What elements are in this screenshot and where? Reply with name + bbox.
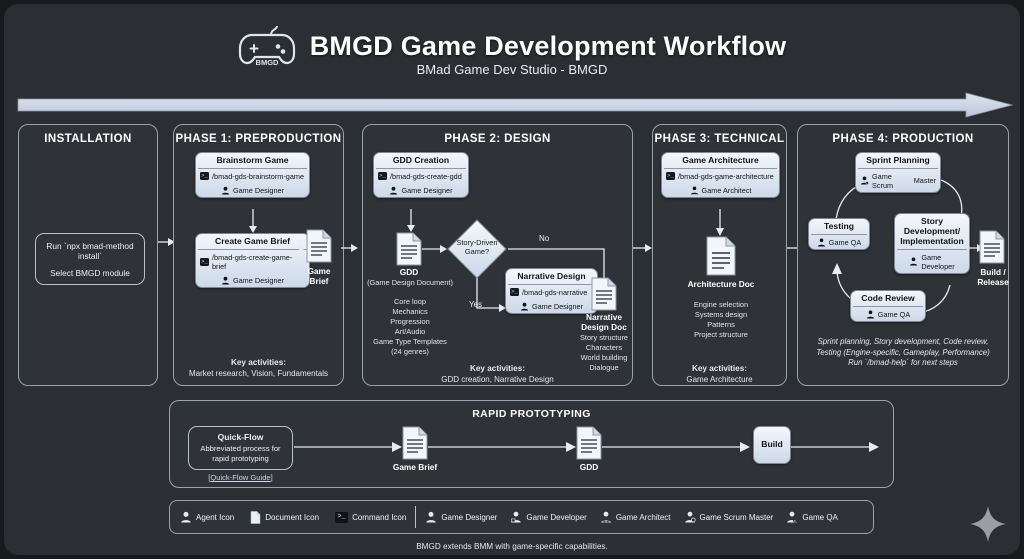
narrative-bullet: Story structure [580, 333, 628, 342]
document-icon-rapid-game-brief [402, 426, 428, 460]
title-line2: Development/ [904, 226, 960, 236]
connector-brief-to-gdd [428, 440, 578, 454]
game-qa-icon [866, 310, 875, 319]
legend-label: Document Icon [265, 513, 319, 522]
label-gdd-sublabel: (Game Design Document) [365, 278, 455, 288]
decision-line1: Story-Driven [456, 238, 497, 247]
command-icon: >_ [200, 258, 209, 266]
quick-flow-desc: Abbreviated process for rapid prototypin… [200, 444, 280, 465]
command-icon: >_ [335, 512, 348, 523]
command-icon: >_ [200, 172, 209, 180]
node-title: Game Architecture [662, 153, 779, 168]
node-command: /bmad-gds-create-game-brief [212, 253, 305, 271]
node-agent-row: Game Developer [895, 250, 969, 273]
arch-bullet: Systems design [695, 310, 747, 319]
label-build-release: Build / Release [967, 268, 1019, 288]
command-icon: >_ [510, 288, 519, 296]
node-agent: Game Designer [233, 276, 284, 285]
arch-bullet: Engine selection [694, 300, 748, 309]
node-command: /bmad-gds-create-gdd [390, 172, 462, 181]
node-agent: Game Architect [702, 186, 752, 195]
desc-line2: rapid prototyping [212, 454, 269, 463]
node-title: Narrative Design [506, 269, 597, 284]
game-designer-icon [425, 511, 437, 523]
game-scrum-master-icon [860, 176, 869, 185]
phase3-panel: PHASE 3: TECHNICAL Game Architecture >_ … [652, 124, 787, 386]
node-agent-row: Game Designer [506, 299, 597, 313]
key-text: Game Architecture [686, 375, 752, 384]
phase2-title: PHASE 2: DESIGN [363, 133, 632, 145]
node-command: /bmad-gds-narrative [522, 288, 587, 297]
node-code-review[interactable]: Code Review Game QA [850, 290, 926, 322]
narrative-bullet: Characters [586, 343, 622, 352]
agent-line1: Game [921, 253, 941, 262]
quick-flow-guide-link[interactable]: [Quick-Flow Guide] [188, 473, 293, 482]
game-developer-icon [510, 511, 522, 523]
node-command: /bmad-gds-game-architecture [678, 172, 774, 181]
connector-phase2-to-phase3 [633, 242, 653, 254]
node-agent-row: Game QA [851, 307, 925, 321]
rapid-prototyping-panel: RAPID PROTOTYPING Quick-Flow Abbreviated… [169, 400, 894, 488]
legend-label: Game QA [802, 513, 838, 522]
connector-gdd-to-decision [422, 243, 448, 255]
document-icon-gdd [396, 232, 422, 266]
quick-flow-box[interactable]: Quick-Flow Abbreviated process for rapid… [188, 426, 293, 470]
gdd-bullet: Game Type Templates [373, 337, 447, 346]
agent-line2: Developer [921, 262, 954, 271]
agent-icon [520, 302, 529, 311]
node-agent: Game Developer [921, 253, 954, 271]
connector-build-out [791, 440, 881, 454]
label-line2: Brief [310, 276, 329, 286]
legend-item-game-developer: Game Developer [510, 511, 586, 523]
node-agent: Game Designer [532, 302, 583, 311]
connector-brief-to-doc [289, 242, 307, 254]
agent-icon [221, 186, 230, 195]
gdd-bullet: Mechanics [392, 307, 427, 316]
label-architecture-doc: Architecture Doc [666, 280, 776, 290]
gdd-bullet: Art/Audio [395, 327, 425, 336]
document-icon-narrative [591, 277, 617, 311]
legend-label: Game Developer [526, 513, 586, 522]
agent-icon [389, 186, 398, 195]
node-testing[interactable]: Testing Game QA [808, 218, 870, 250]
sparkle-icon [966, 502, 1010, 546]
link-text[interactable]: Quick-Flow Guide [210, 473, 270, 482]
node-title: GDD Creation [374, 153, 468, 168]
legend-item-game-qa: Game QA [786, 511, 838, 523]
node-command-row: >_ /bmad-gds-game-architecture [662, 169, 779, 183]
gdd-bullet-list: Core loop Mechanics Progression Art/Audi… [365, 297, 455, 357]
phase2-key-activities: Key activities: GDD creation, Narrative … [363, 363, 632, 386]
quick-flow-title: Quick-Flow [218, 432, 264, 442]
legend-label: Game Architect [616, 513, 671, 522]
page-subtitle: BMad Game Dev Studio - BMGD [4, 62, 1020, 77]
game-architect-icon [690, 186, 699, 195]
node-sprint-planning[interactable]: Sprint Planning Game Scrum Master [855, 152, 941, 193]
node-agent: Game Designer [401, 186, 452, 195]
label-rapid-gdd: GDD [566, 463, 612, 473]
phase1-key-activities: Key activities: Market research, Vision,… [174, 357, 343, 380]
gdd-bullet: Core loop [394, 297, 426, 306]
node-brainstorm-game[interactable]: Brainstorm Game >_ /bmad-gds-brainstorm-… [195, 152, 310, 198]
connector-gdd-to-build [602, 440, 752, 454]
key-label: Key activities: [231, 358, 286, 367]
node-agent-row: Game Architect [662, 183, 779, 197]
key-text: GDD creation, Narrative Design [441, 375, 553, 384]
node-game-architecture[interactable]: Game Architecture >_ /bmad-gds-game-arch… [661, 152, 780, 198]
phase3-title: PHASE 3: TECHNICAL [653, 133, 786, 145]
node-title: Testing [809, 219, 869, 234]
legend-label: Game Scrum Master [700, 513, 774, 522]
node-agent-line1: Game Scrum [872, 172, 911, 190]
node-title: Story Development/ Implementation [895, 214, 969, 249]
label-line1: Narrative [586, 312, 622, 322]
decision-label: Story-Driven Game? [448, 239, 506, 257]
label-narrative-doc: Narrative Design Doc [568, 313, 640, 333]
node-command-row: >_ /bmad-gds-create-gdd [374, 169, 468, 183]
node-title: Code Review [851, 291, 925, 306]
architecture-bullet-list: Engine selection Systems design Patterns… [661, 300, 781, 340]
node-title: Sprint Planning [856, 153, 940, 168]
connector-brainstorm-to-brief [247, 209, 259, 234]
summary-line3: Run `/bmad-help` for next steps [848, 358, 958, 367]
node-agent-line2: Master [914, 176, 936, 185]
arch-bullet: Project structure [694, 330, 748, 339]
legend-item-game-designer: Game Designer [425, 511, 497, 523]
connector-arch-to-doc [714, 209, 726, 237]
title-line1: Story [921, 216, 943, 226]
desc-line1: Abbreviated process for [200, 444, 280, 453]
node-agent-row: Game Designer [374, 183, 468, 197]
document-icon-build-release [979, 230, 1005, 264]
label-game-brief: Game Brief [296, 267, 342, 287]
node-story-development[interactable]: Story Development/ Implementation Game D… [894, 213, 970, 274]
legend-label: Command Icon [352, 513, 406, 522]
document-icon-rapid-gdd [576, 426, 602, 460]
legend-item-document: Document Icon [250, 511, 319, 524]
label-gdd: GDD [379, 268, 439, 278]
legend-panel: Agent Icon Document Icon >_ Command Icon… [169, 500, 874, 534]
narrative-bullet: World building [581, 353, 628, 362]
phase4-panel: PHASE 4: PRODUCTION Sprint Planning [797, 124, 1009, 386]
legend-label: Agent Icon [196, 513, 234, 522]
document-icon [250, 511, 261, 524]
node-agent: Game QA [878, 310, 910, 319]
game-architect-icon [600, 511, 612, 523]
phase3-key-activities: Key activities: Game Architecture [653, 363, 786, 386]
node-agent: Game QA [829, 238, 861, 247]
connector-doc-to-phase2 [341, 242, 359, 254]
key-text: Market research, Vision, Fundamentals [189, 369, 328, 378]
connector-gddcreation-to-gdddoc [405, 209, 417, 233]
legend-label: Game Designer [441, 513, 497, 522]
node-agent: Game Designer [233, 186, 284, 195]
label-rapid-game-brief: Game Brief [382, 463, 448, 473]
legend-item-agent: Agent Icon [180, 511, 234, 523]
game-developer-icon [909, 257, 918, 266]
node-rapid-build[interactable]: Build [753, 426, 791, 464]
legend-item-command: >_ Command Icon [335, 512, 406, 523]
installation-panel: INSTALLATION Run `npx bmad-method instal… [18, 124, 158, 386]
node-title: Brainstorm Game [196, 153, 309, 168]
command-icon: >_ [666, 172, 675, 180]
label-line1: Build / [980, 267, 1005, 277]
document-icon-architecture [706, 236, 736, 276]
decision-line2: Game? [465, 247, 489, 256]
title-line3: Implementation [900, 236, 964, 246]
label-line2: Release [977, 277, 1008, 287]
node-command-row: >_ /bmad-gds-narrative [506, 285, 597, 299]
progress-arrow-banner [14, 92, 1014, 118]
game-qa-icon [817, 238, 826, 247]
arch-bullet: Patterns [707, 320, 735, 329]
agent-icon [221, 276, 230, 285]
node-agent-row: Game QA [809, 235, 869, 249]
node-agent-row: Game Designer [196, 273, 309, 287]
gdd-bullet: (24 genres) [391, 347, 429, 356]
node-gdd-creation[interactable]: GDD Creation >_ /bmad-gds-create-gdd Gam… [373, 152, 469, 198]
phase2-panel: PHASE 2: DESIGN GDD Creation >_ /bmad-gd… [362, 124, 633, 386]
key-label: Key activities: [692, 364, 747, 373]
edge-label-yes: Yes [469, 300, 482, 309]
gdd-bullet: Progression [390, 317, 429, 326]
bracket-close: ] [271, 473, 273, 482]
diagram-canvas: BMGD BMGD Game Development Workflow BMad… [4, 4, 1020, 555]
page-title: BMGD Game Development Workflow [310, 31, 787, 62]
game-qa-icon [786, 511, 798, 523]
phase1-title: PHASE 1: PREPRODUCTION [174, 133, 343, 145]
legend-item-game-scrum-master: Game Scrum Master [684, 511, 774, 523]
connector-quickflow-to-brief [294, 440, 404, 454]
install-command-line: Run `npx bmad-method install` [42, 241, 138, 261]
node-command-row: >_ /bmad-gds-brainstorm-game [196, 169, 309, 183]
node-agent-row: Game Scrum Master [856, 169, 940, 192]
label-line1: Game [307, 266, 330, 276]
phase4-summary: Sprint planning, Story development, Code… [798, 337, 1008, 369]
footnote: BMGD extends BMM with game-specific capa… [4, 542, 1020, 551]
installation-steps-box: Run `npx bmad-method install` Select BMG… [35, 233, 145, 285]
node-command: /bmad-gds-brainstorm-game [212, 172, 304, 181]
rapid-title: RAPID PROTOTYPING [170, 408, 893, 420]
summary-line2: Testing (Engine-specific, Gameplay, Perf… [816, 348, 989, 357]
game-scrum-master-icon [684, 511, 696, 523]
command-icon: >_ [378, 172, 387, 180]
edge-label-no: No [539, 234, 549, 243]
installation-title: INSTALLATION [19, 133, 157, 145]
document-icon-game-brief [306, 229, 332, 263]
legend-divider [415, 506, 416, 528]
install-module-line: Select BMGD module [50, 268, 130, 278]
node-narrative-design[interactable]: Narrative Design >_ /bmad-gds-narrative … [505, 268, 598, 314]
agent-icon [180, 511, 192, 523]
key-label: Key activities: [470, 364, 525, 373]
legend-item-game-architect: Game Architect [600, 511, 671, 523]
label-line2: Design Doc [581, 322, 627, 332]
summary-line1: Sprint planning, Story development, Code… [818, 337, 989, 346]
node-title: Build [761, 440, 782, 450]
node-agent-row: Game Designer [196, 183, 309, 197]
